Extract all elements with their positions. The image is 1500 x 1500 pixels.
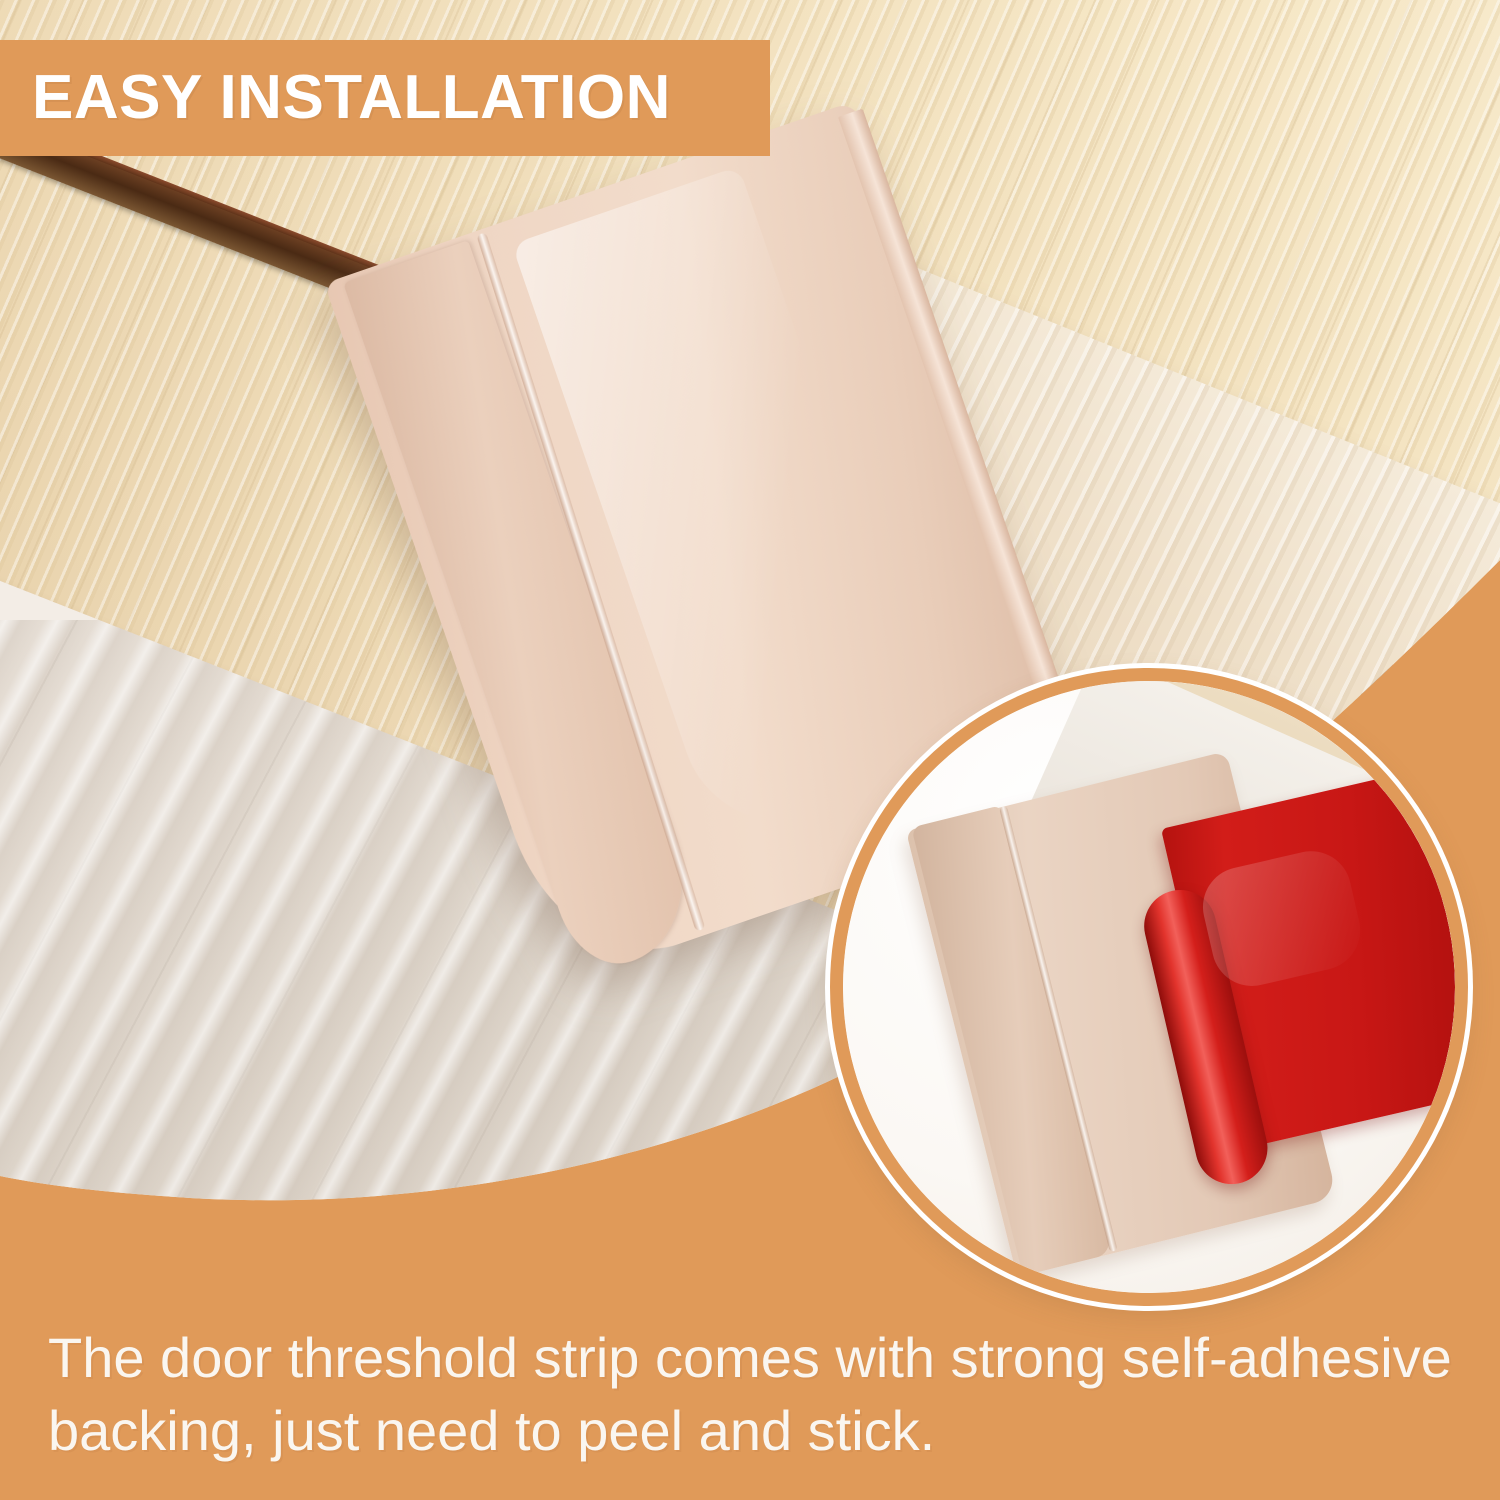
detail-callout-circle xyxy=(830,668,1468,1306)
product-marketing-image: EASY INSTALLATION The door threshold str… xyxy=(0,0,1500,1500)
callout-strip-lip xyxy=(911,805,1112,1276)
callout-photo xyxy=(843,681,1455,1293)
caption-text: The door threshold strip comes with stro… xyxy=(48,1322,1452,1468)
banner-title: EASY INSTALLATION xyxy=(32,67,671,129)
header-banner: EASY INSTALLATION xyxy=(0,40,770,156)
